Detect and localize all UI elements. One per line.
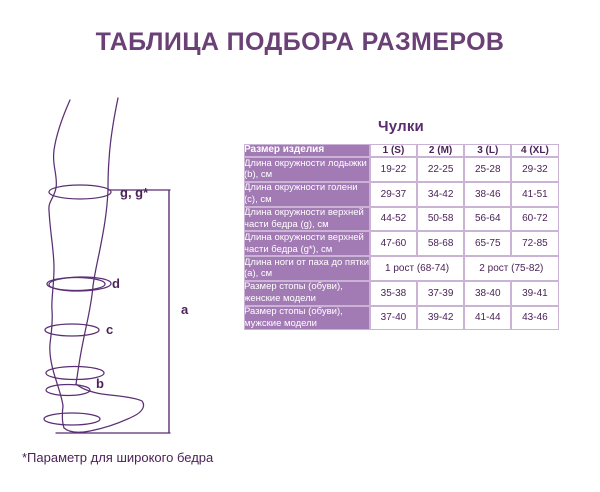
header-cell-size-4: 4 (XL) <box>511 144 558 158</box>
row-value: 44-52 <box>370 207 417 232</box>
table-caption: Чулки <box>243 118 559 135</box>
table-row: Длина окружности верхней части бедра (g*… <box>244 231 559 256</box>
row-value: 38-40 <box>464 281 511 306</box>
page-title: ТАБЛИЦА ПОДБОРА РАЗМЕРОВ <box>0 28 600 57</box>
ring-g <box>49 185 111 199</box>
row-label: Длина окружности голени (c), см <box>244 182 370 207</box>
header-cell-label: Размер изделия <box>244 144 370 158</box>
table-row: Длина окружности верхней части бедра (g)… <box>244 207 559 232</box>
size-table: Размер изделия 1 (S) 2 (M) 3 (L) 4 (XL) … <box>243 143 559 331</box>
row-label: Длина окружности верхней части бедра (g*… <box>244 231 370 256</box>
row-value: 35-38 <box>370 281 417 306</box>
ring-c <box>45 324 99 336</box>
table-row: Длина окружности голени (c), см 29-37 34… <box>244 182 559 207</box>
diagram-label-a: a <box>181 302 189 317</box>
table-row: Размер стопы (обуви), женские модели 35-… <box>244 281 559 306</box>
row-value: 19-22 <box>370 157 417 182</box>
footnote-wide-thigh: *Параметр для широкого бедра <box>22 450 213 465</box>
diagram-label-c: c <box>106 322 113 337</box>
leg-front-thigh-contour <box>93 190 108 286</box>
row-value: 41-44 <box>464 306 511 331</box>
measure-ring-c <box>44 413 100 425</box>
row-label: Размер стопы (обуви), женские модели <box>244 281 370 306</box>
row-value: 41-51 <box>511 182 558 207</box>
table-row-merged: Длина ноги от паха до пятки (a), см 1 ро… <box>244 256 559 281</box>
row-value: 43-46 <box>511 306 558 331</box>
leg-back-upper-contour <box>49 100 70 210</box>
row-value: 58-68 <box>417 231 464 256</box>
row-value: 56-64 <box>464 207 511 232</box>
ring-d <box>47 278 105 291</box>
size-table-head: Размер изделия 1 (S) 2 (M) 3 (L) 4 (XL) <box>244 144 559 158</box>
row-label: Размер стопы (обуви), мужские модели <box>244 306 370 331</box>
row-value: 60-72 <box>511 207 558 232</box>
row-label: Длина ноги от паха до пятки (a), см <box>244 256 370 281</box>
row-value: 25-28 <box>464 157 511 182</box>
ring-b <box>46 385 90 396</box>
table-header-row: Размер изделия 1 (S) 2 (M) 3 (L) 4 (XL) <box>244 144 559 158</box>
header-cell-size-2: 2 (M) <box>417 144 464 158</box>
row-value: 37-39 <box>417 281 464 306</box>
row-label: Длина окружности верхней части бедра (g)… <box>244 207 370 232</box>
header-cell-size-1: 1 (S) <box>370 144 417 158</box>
row-value: 65-75 <box>464 231 511 256</box>
leg-measurement-diagram: g, g* d c b a <box>18 92 233 437</box>
table-row: Размер стопы (обуви), мужские модели 37-… <box>244 306 559 331</box>
row-value: 38-46 <box>464 182 511 207</box>
diagram-label-d: d <box>112 276 120 291</box>
row-value: 22-25 <box>417 157 464 182</box>
leg-back-thigh-contour <box>49 210 54 310</box>
row-value: 47-60 <box>370 231 417 256</box>
table-row: Длина окружности лодыжки (b), см 19-22 2… <box>244 157 559 182</box>
row-value: 72-85 <box>511 231 558 256</box>
header-cell-size-3: 3 (L) <box>464 144 511 158</box>
row-value: 34-42 <box>417 182 464 207</box>
size-table-body: Длина окружности лодыжки (b), см 19-22 2… <box>244 157 559 330</box>
size-table-section: Чулки Размер изделия 1 (S) 2 (M) 3 (L) 4… <box>243 118 559 331</box>
diagram-label-b: b <box>96 376 104 391</box>
row-value: 50-58 <box>417 207 464 232</box>
row-value: 29-32 <box>511 157 558 182</box>
row-value-merged: 2 рост (75-82) <box>464 256 558 281</box>
row-value: 37-40 <box>370 306 417 331</box>
row-value: 39-42 <box>417 306 464 331</box>
row-value: 39-41 <box>511 281 558 306</box>
row-label: Длина окружности лодыжки (b), см <box>244 157 370 182</box>
row-value-merged: 1 рост (68-74) <box>370 256 464 281</box>
diagram-label-g: g, g* <box>120 185 149 200</box>
leg-front-upper-contour <box>108 98 118 190</box>
row-value: 29-37 <box>370 182 417 207</box>
